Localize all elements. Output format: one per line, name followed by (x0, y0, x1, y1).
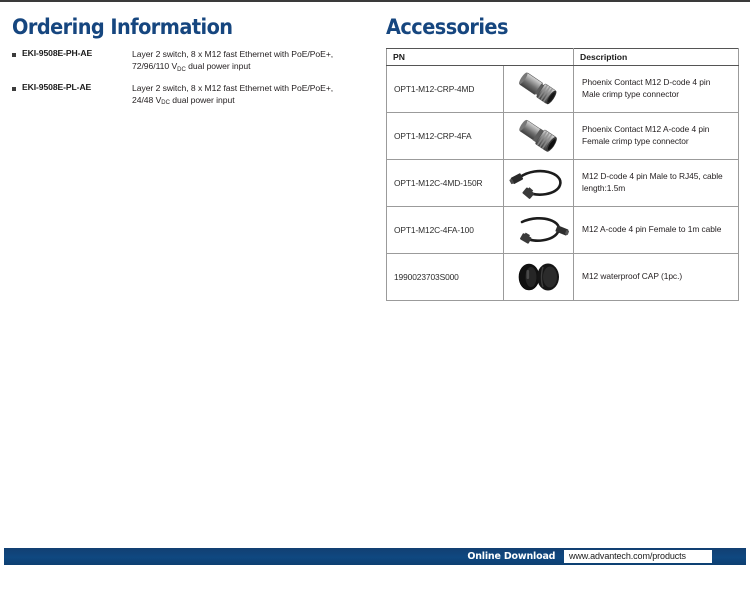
accessory-image-cell (504, 160, 574, 207)
page-top-rule (0, 0, 750, 2)
ordering-description-line2-pre: 24/48 V (132, 95, 161, 105)
accessory-image-cell (504, 207, 574, 254)
list-item: EKI-9508E-PH-AE Layer 2 switch, 8 x M12 … (12, 48, 380, 73)
ordering-description: Layer 2 switch, 8 x M12 fast Ethernet wi… (132, 48, 380, 73)
voltage-subscript: DC (161, 100, 170, 106)
m12-male-connector-icon (510, 69, 568, 109)
column-header-pn: PN (387, 49, 574, 66)
accessory-part-number: OPT1-M12C-4FA-100 (387, 207, 504, 254)
table-row: OPT1-M12-CRP-4FA (387, 113, 739, 160)
m12-female-cable-icon (508, 210, 570, 250)
online-download-label: Online Download (468, 551, 556, 562)
ordering-list: EKI-9508E-PH-AE Layer 2 switch, 8 x M12 … (12, 48, 380, 106)
accessories-table: PN Description OPT1-M12-CRP-4MD (386, 48, 739, 301)
ordering-information-section: Ordering Information EKI-9508E-PH-AE Lay… (12, 16, 380, 115)
table-row: OPT1-M12C-4MD-150R M12 D-co (387, 160, 739, 207)
m12-female-connector-icon (510, 116, 568, 156)
ordering-part-number: EKI-9508E-PH-AE (22, 48, 132, 60)
accessory-part-number: OPT1-M12-CRP-4FA (387, 113, 504, 160)
bullet-square-icon (12, 87, 16, 91)
online-download-url[interactable]: www.advantech.com/products (564, 550, 712, 563)
ordering-description-line2-post: dual power input (186, 61, 251, 71)
accessory-description: Phoenix Contact M12 A-code 4 pin Female … (574, 113, 739, 160)
accessory-description: Phoenix Contact M12 D-code 4 pin Male cr… (574, 66, 739, 113)
accessory-part-number: OPT1-M12C-4MD-150R (387, 160, 504, 207)
accessories-title: Accessories (386, 16, 710, 38)
accessory-image-cell (504, 113, 574, 160)
ordering-description-line2-pre: 72/96/110 V (132, 61, 177, 71)
m12-to-rj45-cable-icon (508, 163, 570, 203)
ordering-information-title: Ordering Information (12, 16, 351, 38)
table-header-row: PN Description (387, 49, 739, 66)
accessory-description: M12 D-code 4 pin Male to RJ45, cable len… (574, 160, 739, 207)
voltage-subscript: DC (177, 67, 186, 73)
ordering-description-line1: Layer 2 switch, 8 x M12 fast Ethernet wi… (132, 49, 333, 59)
accessory-image-cell (504, 254, 574, 301)
ordering-description-line1: Layer 2 switch, 8 x M12 fast Ethernet wi… (132, 83, 333, 93)
bullet-square-icon (12, 53, 16, 57)
table-row: OPT1-M12C-4FA-100 M12 A-cod (387, 207, 739, 254)
accessories-section: Accessories PN Description OPT1-M12-CRP-… (386, 16, 738, 301)
column-header-description: Description (574, 49, 739, 66)
accessory-image-cell (504, 66, 574, 113)
ordering-part-number: EKI-9508E-PL-AE (22, 82, 132, 94)
list-item: EKI-9508E-PL-AE Layer 2 switch, 8 x M12 … (12, 82, 380, 107)
accessory-part-number: OPT1-M12-CRP-4MD (387, 66, 504, 113)
footer-bar: Online Download www.advantech.com/produc… (4, 548, 746, 565)
accessory-description: M12 A-code 4 pin Female to 1m cable (574, 207, 739, 254)
m12-waterproof-cap-icon (510, 258, 568, 296)
ordering-description-line2-post: dual power input (170, 95, 235, 105)
table-row: 1990023703S000 M12 wa (387, 254, 739, 301)
ordering-description: Layer 2 switch, 8 x M12 fast Ethernet wi… (132, 82, 380, 107)
accessory-part-number: 1990023703S000 (387, 254, 504, 301)
table-row: OPT1-M12-CRP-4MD (387, 66, 739, 113)
accessory-description: M12 waterproof CAP (1pc.) (574, 254, 739, 301)
